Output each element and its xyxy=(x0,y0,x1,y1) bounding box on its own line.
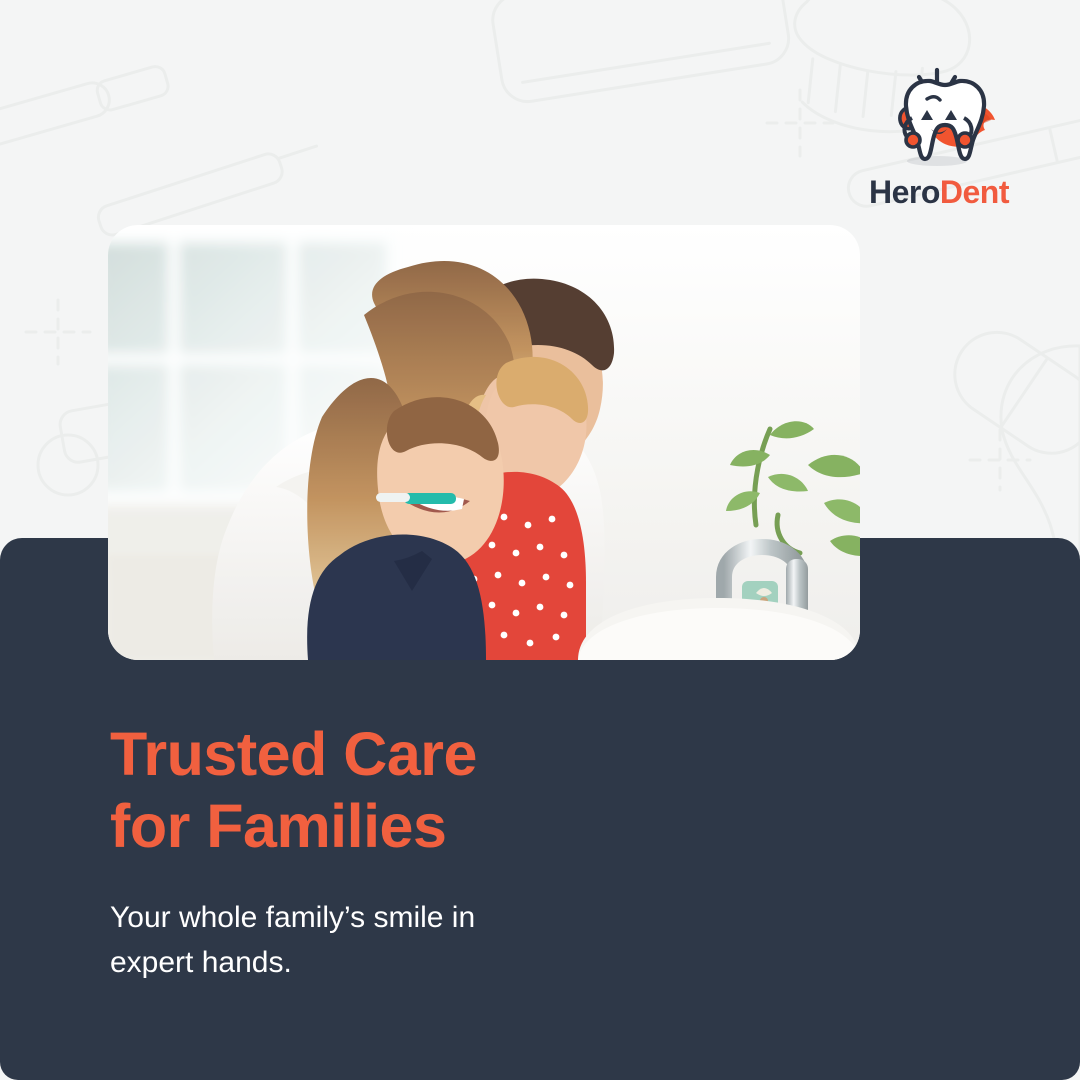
poster-canvas: HeroDent Trusted Care for Families Your … xyxy=(0,0,1080,1080)
brand-logo[interactable]: HeroDent xyxy=(858,66,1020,208)
brand-wordmark: HeroDent xyxy=(869,176,1009,208)
headline: Trusted Care for Families xyxy=(110,718,710,862)
tooth-dot-icon xyxy=(38,435,98,495)
floss-box-icon xyxy=(489,0,792,105)
plus-cross-icon xyxy=(970,430,1030,490)
toothbrush-icon xyxy=(0,62,171,153)
plus-cross-icon xyxy=(26,300,90,364)
subheadline: Your whole family’s smile in expert hand… xyxy=(110,895,710,985)
hero-photo-card xyxy=(108,225,860,660)
hero-copy: Trusted Care for Families Your whole fam… xyxy=(110,718,710,985)
syringe-icon xyxy=(95,138,323,238)
plus-cross-icon xyxy=(767,90,833,156)
superhero-tooth-mascot-icon xyxy=(879,66,999,170)
brand-name-dent: Dent xyxy=(940,174,1009,210)
brand-name-hero: Hero xyxy=(869,174,940,210)
pill-icon xyxy=(938,316,1080,470)
family-brushing-teeth-photo xyxy=(108,225,860,660)
